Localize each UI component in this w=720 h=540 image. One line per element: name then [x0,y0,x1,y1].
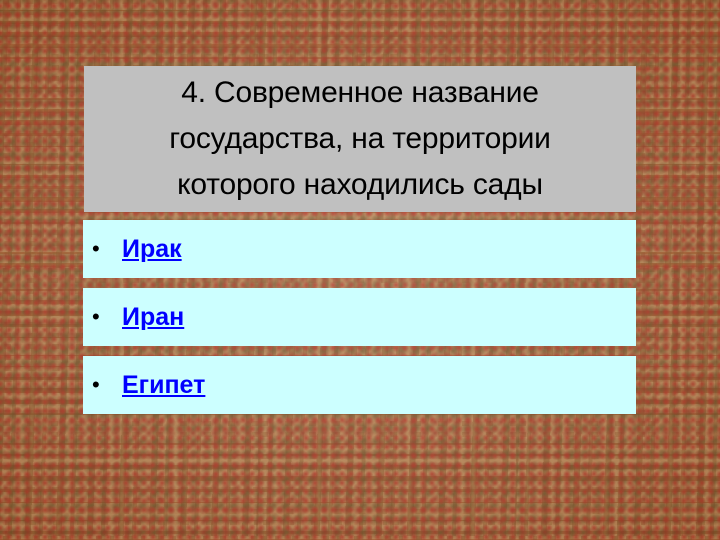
question-title-box: 4. Современное название государства, на … [84,66,636,212]
answer-option-irak[interactable]: • Ирак [83,220,636,278]
answer-link-iran[interactable]: Иран [122,302,184,332]
quiz-slide: 4. Современное название государства, на … [0,0,720,540]
question-title-line-3: которого находились сады [177,162,543,208]
answer-link-irak[interactable]: Ирак [122,234,182,264]
question-title-line-2: государства, на территории [169,116,550,162]
answer-option-egipet[interactable]: • Египет [83,356,636,414]
bullet-icon: • [92,374,122,396]
bullet-icon: • [92,238,122,260]
bullet-icon: • [92,306,122,328]
answer-option-iran[interactable]: • Иран [83,288,636,346]
question-title-line-1: 4. Современное название [181,70,539,116]
answer-link-egipet[interactable]: Египет [122,370,205,400]
